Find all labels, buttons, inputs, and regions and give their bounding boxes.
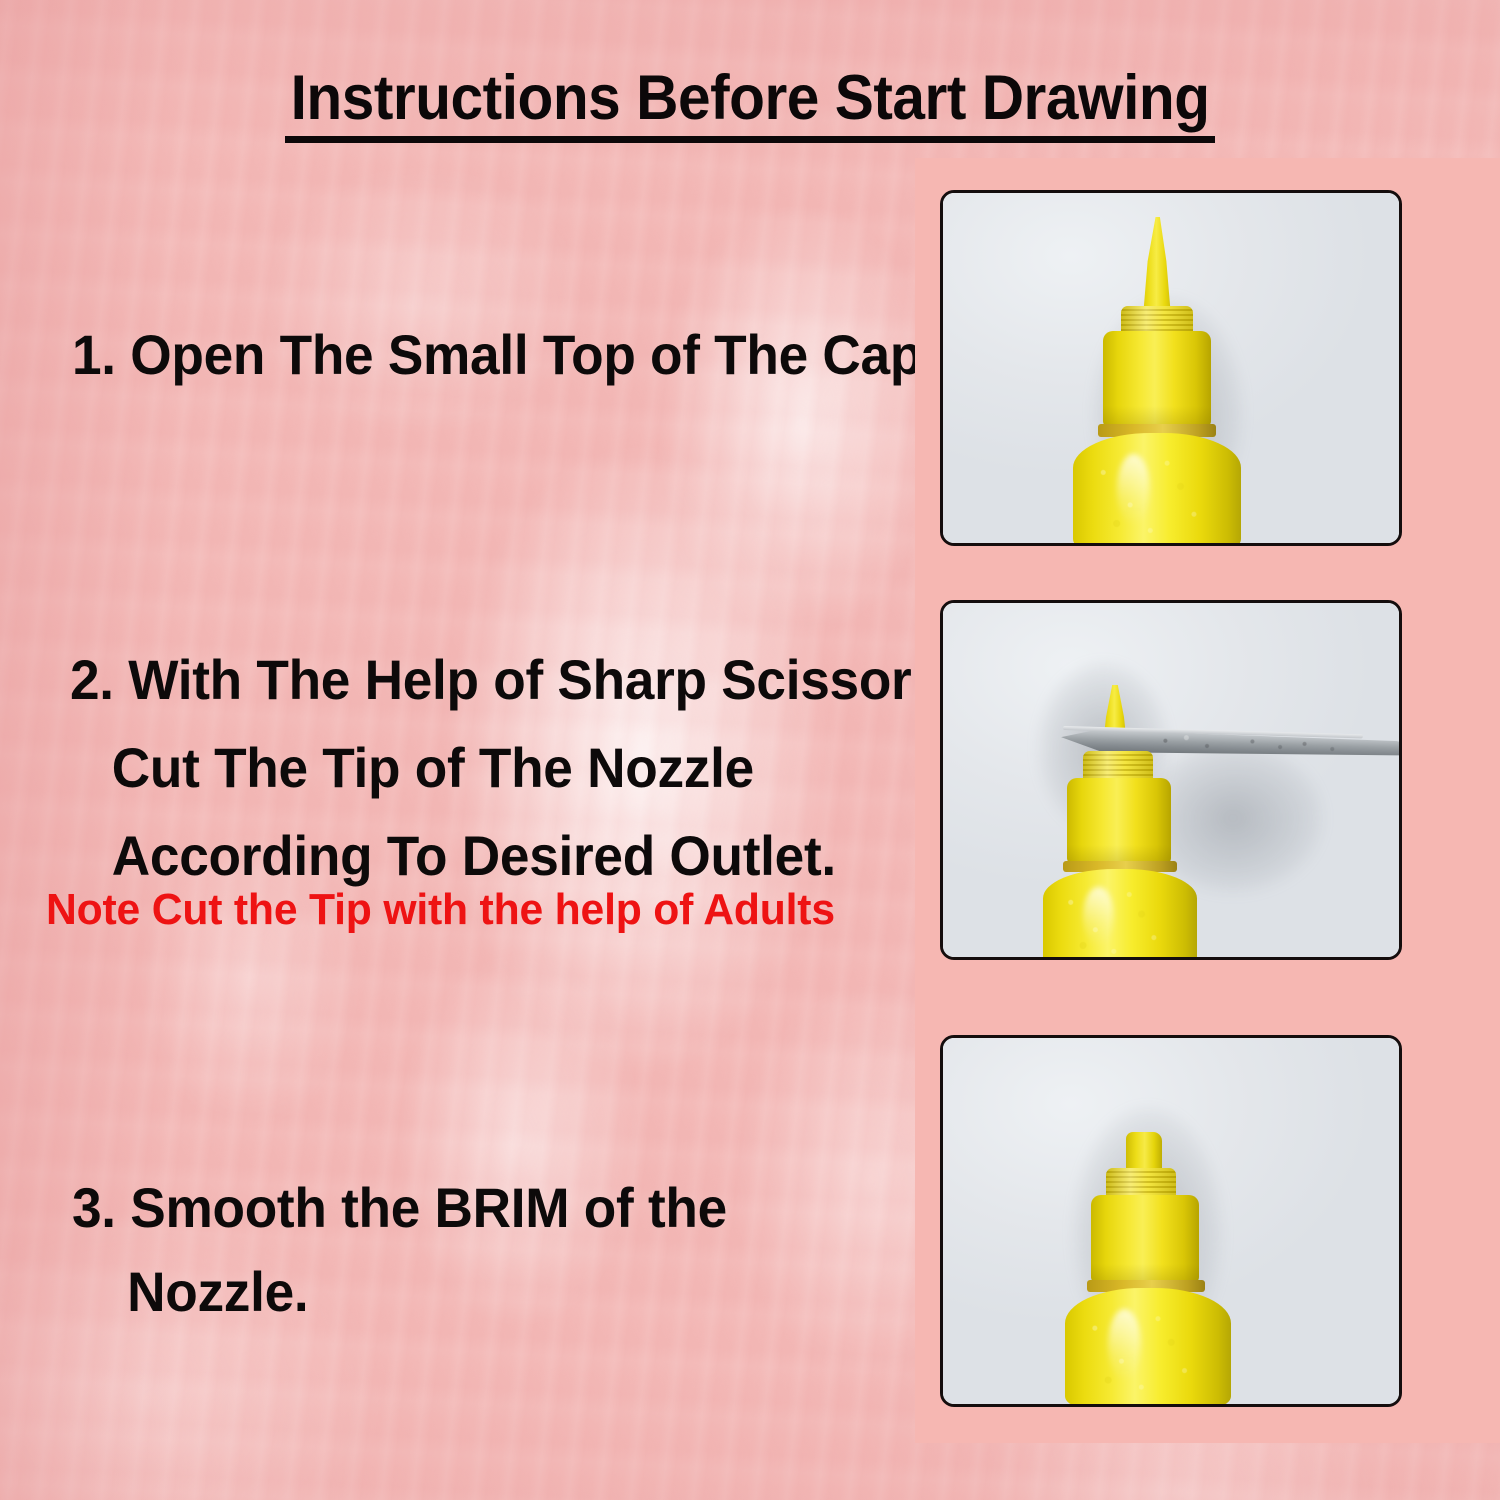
step-3-line-1: 3. Smooth the BRIM of the xyxy=(72,1166,727,1250)
instruction-poster: Instructions Before Start Drawing 1. Ope… xyxy=(0,0,1500,1500)
photo-2-glitter-texture xyxy=(1043,869,1197,960)
step-2-line-1: 2. With The Help of Sharp Scissor xyxy=(70,636,911,724)
step-2-safety-note: Note Cut the Tip with the help of Adults xyxy=(46,884,835,936)
photo-3-nozzle-threads xyxy=(1106,1168,1176,1198)
photo-1-backdrop xyxy=(943,193,1399,543)
photo-1-bottle-body xyxy=(1073,433,1241,546)
photo-3-cap xyxy=(1091,1195,1199,1283)
step-2-line-2: Cut The Tip of The Nozzle xyxy=(70,724,911,812)
photo-2-nozzle-threads xyxy=(1083,751,1153,781)
photo-1-cap xyxy=(1103,331,1211,427)
instructions-list: 1. Open The Small Top of The Cap 2. With… xyxy=(0,0,915,1500)
step-3-line-2: Nozzle. xyxy=(72,1250,727,1334)
photo-1-glitter-texture xyxy=(1073,433,1241,546)
photo-2-backdrop xyxy=(943,603,1399,957)
photo-3-bottle-body xyxy=(1065,1288,1231,1406)
photo-step-2-cutting-nozzle xyxy=(940,600,1402,960)
photo-2-bottle-body xyxy=(1043,869,1197,960)
photo-2-cap xyxy=(1067,778,1171,864)
step-1-line-1: 1. Open The Small Top of The Cap xyxy=(72,322,922,388)
photo-1-nozzle-threads xyxy=(1121,306,1193,334)
photo-3-cut-nozzle-stub xyxy=(1126,1132,1162,1172)
instruction-step-3: 3. Smooth the BRIM of the Nozzle. xyxy=(72,1166,761,1334)
photo-3-glitter-texture xyxy=(1065,1288,1231,1406)
photo-3-backdrop xyxy=(943,1038,1399,1404)
instruction-step-1: 1. Open The Small Top of The Cap xyxy=(72,322,967,388)
instruction-step-2: 2. With The Help of Sharp Scissor Cut Th… xyxy=(70,636,956,900)
photo-step-1-uncut-nozzle xyxy=(940,190,1402,546)
photo-step-3-smoothed-nozzle xyxy=(940,1035,1402,1407)
photo-column xyxy=(915,158,1500,1443)
